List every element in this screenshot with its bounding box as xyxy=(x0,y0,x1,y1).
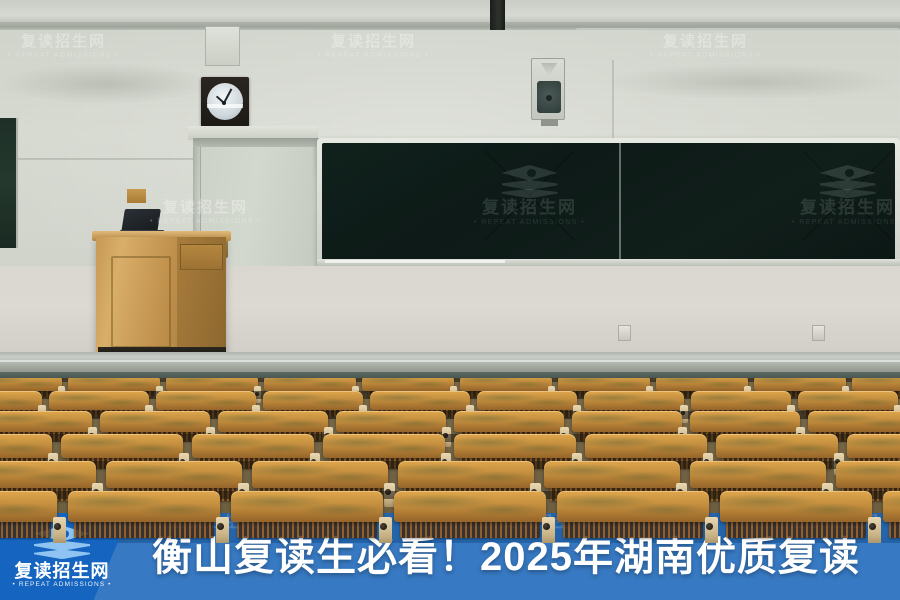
speaker-center-dot xyxy=(546,95,552,101)
lecture-seat xyxy=(883,491,900,522)
lecture-seat xyxy=(690,411,800,432)
lecture-seat xyxy=(836,461,900,488)
seat-bolt xyxy=(869,523,876,530)
lecture-seat xyxy=(336,411,446,432)
lecture-seats xyxy=(0,378,900,543)
lecture-seat xyxy=(0,434,52,458)
lecture-seat xyxy=(460,378,552,391)
lecture-seat xyxy=(370,391,470,410)
speaker-bracket xyxy=(541,63,557,74)
wall-stain xyxy=(0,64,210,104)
stage-edge-highlight xyxy=(0,360,900,362)
watermark-cross-lines xyxy=(766,151,895,240)
lecture-seat xyxy=(264,378,356,391)
lecture-seat xyxy=(716,434,838,458)
lecture-seat xyxy=(0,411,92,432)
lecture-seat xyxy=(218,411,328,432)
lecture-seat xyxy=(847,434,900,458)
seat-bolt xyxy=(706,523,713,530)
seat-armrest xyxy=(868,517,881,543)
lecture-seat xyxy=(68,491,220,522)
lecture-seat xyxy=(323,434,445,458)
side-chalkboard xyxy=(0,118,18,248)
lecture-seat xyxy=(68,378,160,391)
lecture-seat xyxy=(0,391,42,410)
lecture-seat xyxy=(584,391,684,410)
seat-armrest xyxy=(542,517,555,543)
lecture-seat xyxy=(798,391,898,410)
watermark-subtitle: • REPEAT ADMISSIONS • xyxy=(474,219,585,226)
lecture-seat xyxy=(691,391,791,410)
watermark-cross-lines xyxy=(448,151,611,240)
chalkboard-surface: 复读招生网 • REPEAT ADMISSIONS • 复读招生网 • REPE… xyxy=(322,143,895,261)
lecture-seat xyxy=(572,411,682,432)
lecture-seat xyxy=(544,461,680,488)
lecture-seat xyxy=(808,411,900,432)
seat-armrest xyxy=(705,517,718,543)
lecture-seat xyxy=(656,378,748,391)
seat-bolt xyxy=(54,523,61,530)
lecture-seat xyxy=(100,411,210,432)
lecture-seat xyxy=(49,391,149,410)
lecture-seat xyxy=(61,434,183,458)
watermark-subtitle: • REPEAT ADMISSIONS • xyxy=(792,219,895,226)
watermark-brand: 复读招生网 xyxy=(800,199,895,216)
logo-brand-name: 复读招生网 xyxy=(15,562,110,580)
chalk-tray-highlight xyxy=(325,260,505,263)
lecture-seat xyxy=(394,491,546,522)
classroom-photo: 复读招生网 • REPEAT ADMISSIONS • 复读招生网 • REPE… xyxy=(0,0,900,600)
wall-stain xyxy=(600,64,900,100)
seat-bolt xyxy=(543,523,550,530)
graduation-cap-icon xyxy=(820,165,876,199)
watermark: 复读招生网 • REPEAT ADMISSIONS • xyxy=(474,165,585,226)
seat-bolt xyxy=(217,523,224,530)
lecture-seat xyxy=(454,434,576,458)
lectern-front-panel xyxy=(111,256,171,348)
lecture-seat xyxy=(558,378,650,391)
wall-mounted-block xyxy=(127,189,146,203)
wall-clock xyxy=(201,77,249,127)
lecture-seat xyxy=(720,491,872,522)
seat-bolt xyxy=(380,523,387,530)
door-lintel xyxy=(193,138,319,147)
wall-socket xyxy=(618,325,631,341)
lectern-drawer xyxy=(180,244,223,270)
graduation-cap-icon xyxy=(502,165,558,199)
lecture-seat xyxy=(0,461,96,488)
lecture-seat xyxy=(106,461,242,488)
wall-speaker xyxy=(531,58,565,120)
lecture-seat xyxy=(166,378,258,391)
lecture-seat xyxy=(557,491,709,522)
seat-armrest xyxy=(53,517,66,543)
lecture-seat xyxy=(252,461,388,488)
lecture-seat xyxy=(231,491,383,522)
lecture-seat xyxy=(585,434,707,458)
lecture-seat xyxy=(454,411,564,432)
seat-armrest xyxy=(216,517,229,543)
lecture-seat xyxy=(192,434,314,458)
lecture-seat xyxy=(852,378,900,391)
lecture-seat xyxy=(477,391,577,410)
lecture-seat xyxy=(362,378,454,391)
logo-brand-subtitle: • REPEAT ADMISSIONS • xyxy=(13,582,112,589)
seat-row xyxy=(0,491,900,543)
lecture-seat xyxy=(754,378,846,391)
lecture-seat xyxy=(398,461,534,488)
clock-center-pin xyxy=(222,101,226,105)
watermark: 复读招生网 • REPEAT ADMISSIONS • xyxy=(792,165,895,226)
speaker-foot xyxy=(541,119,558,126)
chalkboard-divider xyxy=(619,143,621,261)
lecture-seat xyxy=(0,491,57,522)
lecture-seat xyxy=(263,391,363,410)
seat-armrest xyxy=(379,517,392,543)
wall-vent xyxy=(205,26,240,66)
lecture-seat xyxy=(690,461,826,488)
watermark-brand: 复读招生网 xyxy=(482,199,577,216)
promotional-image: 复读招生网 • REPEAT ADMISSIONS • 复读招生网 • REPE… xyxy=(0,0,900,600)
wall-socket xyxy=(812,325,825,341)
chalkboard: 复读招生网 • REPEAT ADMISSIONS • 复读招生网 • REPE… xyxy=(317,138,900,266)
lecture-seat xyxy=(156,391,256,410)
lecture-seat xyxy=(0,378,62,391)
